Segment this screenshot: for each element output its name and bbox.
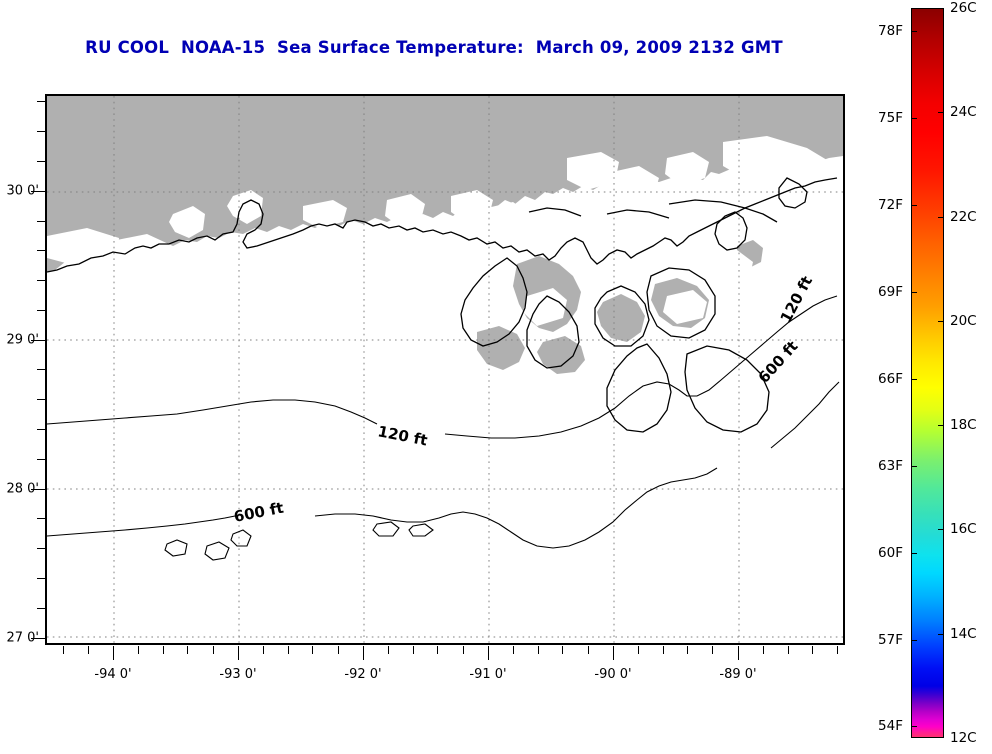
y-minor-tick (37, 101, 45, 102)
y-minor-tick (37, 310, 45, 311)
colorbar-tick-c-4 (938, 425, 944, 426)
y-minor-tick (37, 518, 45, 519)
colorbar-tick-f-7 (911, 640, 917, 641)
y-minor-tick (37, 608, 45, 609)
x-minor-tick (788, 646, 789, 654)
x-minor-tick (263, 646, 264, 654)
colorbar-tick-f-3 (911, 292, 917, 293)
colorbar-tick-f-4 (911, 379, 917, 380)
colorbar-label-f-3: 69F (859, 284, 903, 300)
y-minor-tick (37, 369, 45, 370)
colorbar-label-c-6: 14C (950, 626, 977, 642)
x-major-tick-0 (113, 646, 114, 660)
colorbar-tick-f-5 (911, 466, 917, 467)
y-minor-tick (37, 131, 45, 132)
x-minor-tick (63, 646, 64, 654)
colorbar-tick-c-3 (938, 321, 944, 322)
x-minor-tick (413, 646, 414, 654)
y-minor-tick (37, 459, 45, 460)
colorbar-label-c-4: 18C (950, 417, 977, 433)
x-minor-tick (562, 646, 563, 654)
colorbar-label-f-6: 60F (859, 545, 903, 561)
x-minor-tick (812, 646, 813, 654)
colorbar-tick-f-6 (911, 553, 917, 554)
colorbar-label-c-5: 16C (950, 521, 977, 537)
colorbar-label-f-2: 72F (859, 197, 903, 213)
x-minor-tick (663, 646, 664, 654)
x-minor-tick (538, 646, 539, 654)
colorbar-label-f-8: 54F (859, 718, 903, 734)
colorbar-tick-c-2 (938, 217, 944, 218)
colorbar-label-c-2: 22C (950, 209, 977, 225)
sst-map-page: RU COOL NOAA-15 Sea Surface Temperature:… (0, 0, 992, 754)
x-axis-label-0: -94 0' (94, 667, 131, 682)
x-minor-tick (138, 646, 139, 654)
x-minor-tick (437, 646, 438, 654)
y-minor-tick (37, 280, 45, 281)
colorbar-label-c-3: 20C (950, 313, 977, 329)
x-minor-tick (837, 646, 838, 654)
x-major-tick-4 (613, 646, 614, 660)
x-minor-tick (763, 646, 764, 654)
y-axis-label-3: 27 0' (0, 631, 39, 646)
y-minor-tick (37, 221, 45, 222)
x-axis-label-5: -89 0' (719, 667, 756, 682)
colorbar-tick-c-5 (938, 529, 944, 530)
colorbar-tick-f-8 (911, 726, 917, 727)
colorbar-tick-c-1 (938, 112, 944, 113)
map-canvas: 120 ft 600 ft 120 ft 600 ft (47, 96, 843, 643)
page-title: RU COOL NOAA-15 Sea Surface Temperature:… (0, 38, 868, 57)
colorbar-label-c-0: 26C (950, 0, 977, 16)
map-plot-area[interactable]: 120 ft 600 ft 120 ft 600 ft (45, 94, 845, 645)
x-minor-tick (187, 646, 188, 654)
y-minor-tick (37, 161, 45, 162)
x-minor-tick (638, 646, 639, 654)
x-minor-tick (388, 646, 389, 654)
x-major-tick-5 (738, 646, 739, 660)
x-major-tick-2 (363, 646, 364, 660)
colorbar-label-f-1: 75F (859, 110, 903, 126)
x-minor-tick (312, 646, 313, 654)
colorbar-label-f-5: 63F (859, 458, 903, 474)
y-minor-tick (37, 399, 45, 400)
x-minor-tick (88, 646, 89, 654)
x-minor-tick (513, 646, 514, 654)
x-major-tick-3 (488, 646, 489, 660)
colorbar-tick-f-2 (911, 205, 917, 206)
x-axis-label-3: -91 0' (469, 667, 506, 682)
x-minor-tick (338, 646, 339, 654)
y-minor-tick (37, 250, 45, 251)
x-axis-label-2: -92 0' (344, 667, 381, 682)
colorbar-tick-f-1 (911, 118, 917, 119)
x-major-tick-1 (238, 646, 239, 660)
colorbar-tick-f-0 (911, 31, 917, 32)
x-minor-tick (712, 646, 713, 654)
x-axis-label-1: -93 0' (219, 667, 256, 682)
colorbar-label-f-7: 57F (859, 632, 903, 648)
y-minor-tick (37, 548, 45, 549)
y-minor-tick (37, 429, 45, 430)
y-axis-label-0: 30 0' (0, 184, 39, 199)
x-minor-tick (213, 646, 214, 654)
x-minor-tick (163, 646, 164, 654)
colorbar-label-c-1: 24C (950, 104, 977, 120)
colorbar-label-f-4: 66F (859, 371, 903, 387)
x-minor-tick (463, 646, 464, 654)
x-axis-label-4: -90 0' (594, 667, 631, 682)
x-minor-tick (687, 646, 688, 654)
colorbar-label-c-7: 12C (950, 730, 977, 746)
colorbar-label-f-0: 78F (859, 23, 903, 39)
colorbar-tick-c-6 (938, 634, 944, 635)
x-minor-tick (288, 646, 289, 654)
x-minor-tick (588, 646, 589, 654)
y-axis-label-1: 29 0' (0, 333, 39, 348)
y-minor-tick (37, 578, 45, 579)
y-axis-label-2: 28 0' (0, 482, 39, 497)
